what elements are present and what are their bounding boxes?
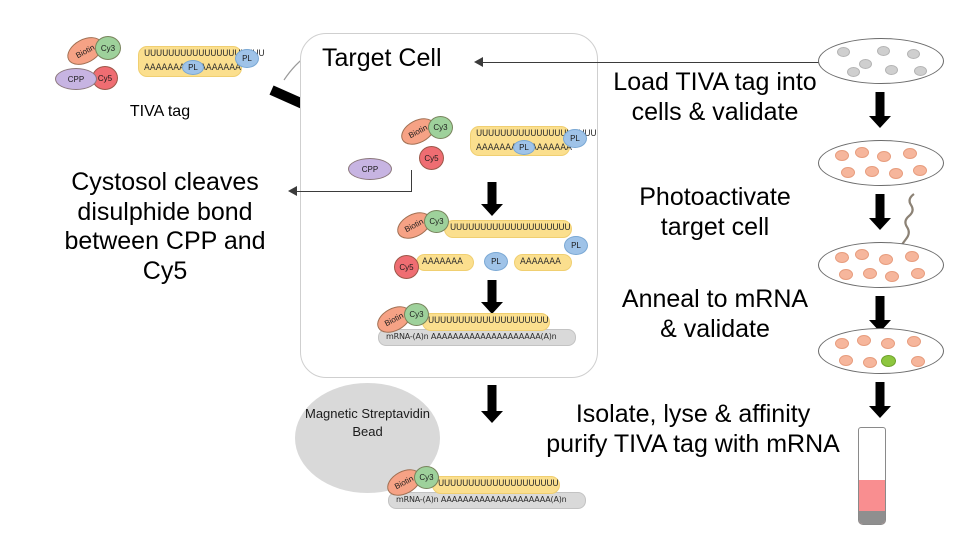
bead-label: Magnetic Streptavidin Bead	[295, 405, 440, 440]
lysate-test-tube	[858, 427, 886, 525]
diagram-canvas: UUUUUUUUUUUUUUUUUUUU AAAAAAA AAAAAAA PL …	[0, 0, 960, 540]
stageA-pl-end-label: PL	[570, 134, 580, 143]
stageC-cy3: Cy3	[404, 303, 429, 326]
load-arrow-head	[474, 57, 483, 67]
stageB-cy3-label: Cy3	[429, 217, 443, 226]
cy3-blob: Cy3	[95, 36, 121, 60]
stageA-biotin-label: Biotin	[407, 123, 429, 140]
cy5-label: Cy5	[98, 74, 112, 83]
target-cell-title: Target Cell	[322, 44, 482, 74]
load-arrow-line	[482, 62, 832, 63]
tiva-tag-stage-intact: UUUUUUUUUUUUUUUUUUUU AAAAAAA AAAAAAA PL …	[398, 118, 588, 176]
stageA-cy3: Cy3	[428, 116, 453, 139]
tiva-tag-stage-cleaved: UUUUUUUUUUUUUUUUUUUU AAAAAAA AAAAAAA PL …	[396, 212, 591, 280]
final-poly-u: UUUUUUUUUUUUUUUUUUUU	[438, 479, 558, 489]
down-arrow-stageA-B	[479, 182, 505, 216]
down-arrow-isolate	[479, 385, 505, 425]
poly-a-sequence-left: AAAAAAA	[144, 63, 185, 73]
step-anneal-mrna: Anneal to mRNA & validate	[598, 285, 832, 344]
stageB-cy3: Cy3	[424, 210, 449, 233]
biotin-label: Biotin	[74, 42, 96, 59]
stageB-cy5-label: Cy5	[399, 263, 413, 272]
stageC-biotin-label: Biotin	[383, 311, 405, 328]
tube-bead-pellet	[859, 511, 885, 524]
mrna-strand-label: mRNA-(A)n AAAAAAAAAAAAAAAAAAAA(A)n	[386, 332, 557, 341]
stageB-pl-inner: PL	[484, 252, 508, 271]
stageC-poly-u: UUUUUUUUUUUUUUUUUUUU	[428, 316, 548, 326]
cpp-label: CPP	[68, 75, 84, 84]
stageA-pl-end: PL	[563, 129, 587, 148]
stageA-poly-a-left: AAAAAAA	[476, 143, 517, 153]
stageB-pl-end-label: PL	[571, 241, 581, 250]
petri-dish-untreated	[818, 38, 944, 84]
activated-target-cell	[881, 355, 896, 367]
cpp-bracket-horizontal	[296, 191, 412, 192]
final-mrna-strand-label: mRNA-(A)n AAAAAAAAAAAAAAAAAAAA(A)n	[396, 495, 567, 504]
tiva-tag-annealed-mrna: mRNA-(A)n AAAAAAAAAAAAAAAAAAAA(A)n UUUUU…	[378, 305, 583, 355]
stageB-poly-u: UUUUUUUUUUUUUUUUUUUU	[450, 223, 570, 233]
cpp-blob: CPP	[55, 68, 97, 90]
stageA-cy5: Cy5	[419, 146, 444, 170]
stageA-cy3-label: Cy3	[433, 123, 447, 132]
stageA-pl-inner-label: PL	[519, 143, 529, 152]
photoactivation-laser-icon	[884, 192, 924, 248]
cytosol-cleaves-note: Cystosol cleaves disulphide bond between…	[40, 168, 290, 286]
step-photoactivate: Photoactivate target cell	[600, 183, 830, 242]
stageB-pl-inner-label: PL	[491, 257, 501, 266]
petri-dish-activated	[818, 328, 944, 374]
tiva-tag-molecule: UUUUUUUUUUUUUUUUUUUU AAAAAAA AAAAAAA PL …	[60, 36, 260, 96]
step-isolate-purify: Isolate, lyse & affinity purify TIVA tag…	[538, 400, 848, 459]
step-load-tiva-tag: Load TIVA tag into cells & validate	[596, 68, 834, 127]
stageB-cy5: Cy5	[394, 255, 419, 279]
stageB-biotin-label: Biotin	[403, 217, 425, 234]
stageC-cy3-label: Cy3	[409, 310, 423, 319]
stageB-pl-end: PL	[564, 236, 588, 255]
down-arrow-dish4-tube	[867, 382, 893, 420]
final-biotin-label: Biotin	[393, 474, 415, 491]
stageA-pl-inner: PL	[513, 140, 535, 155]
cpp-bracket-vertical	[411, 170, 412, 192]
final-cy3-label: Cy3	[419, 473, 433, 482]
petri-dish-loaded	[818, 140, 944, 186]
pl-label: PL	[188, 63, 198, 72]
poly-a-sequence-right: AAAAAAA	[200, 63, 241, 73]
tiva-tag-caption: TIVA tag	[95, 103, 225, 122]
stageB-poly-a-left: AAAAAAA	[422, 257, 463, 267]
pl-label-end: PL	[242, 54, 252, 63]
captured-tiva-mrna-complex: mRNA-(A)n AAAAAAAAAAAAAAAAAAAA(A)n UUUUU…	[388, 468, 593, 518]
cleaved-cpp-blob: CPP	[348, 158, 392, 180]
petri-dish-photoactivating	[818, 242, 944, 288]
cleaved-cpp-label: CPP	[362, 165, 378, 174]
pl-blob-end: PL	[235, 49, 259, 68]
stageB-poly-a-right: AAAAAAA	[520, 257, 561, 267]
down-arrow-dish1-dish2	[867, 92, 893, 130]
pl-blob-inner: PL	[182, 60, 204, 75]
cy3-label: Cy3	[101, 44, 115, 53]
stageA-cy5-label: Cy5	[424, 154, 438, 163]
final-cy3: Cy3	[414, 466, 439, 489]
